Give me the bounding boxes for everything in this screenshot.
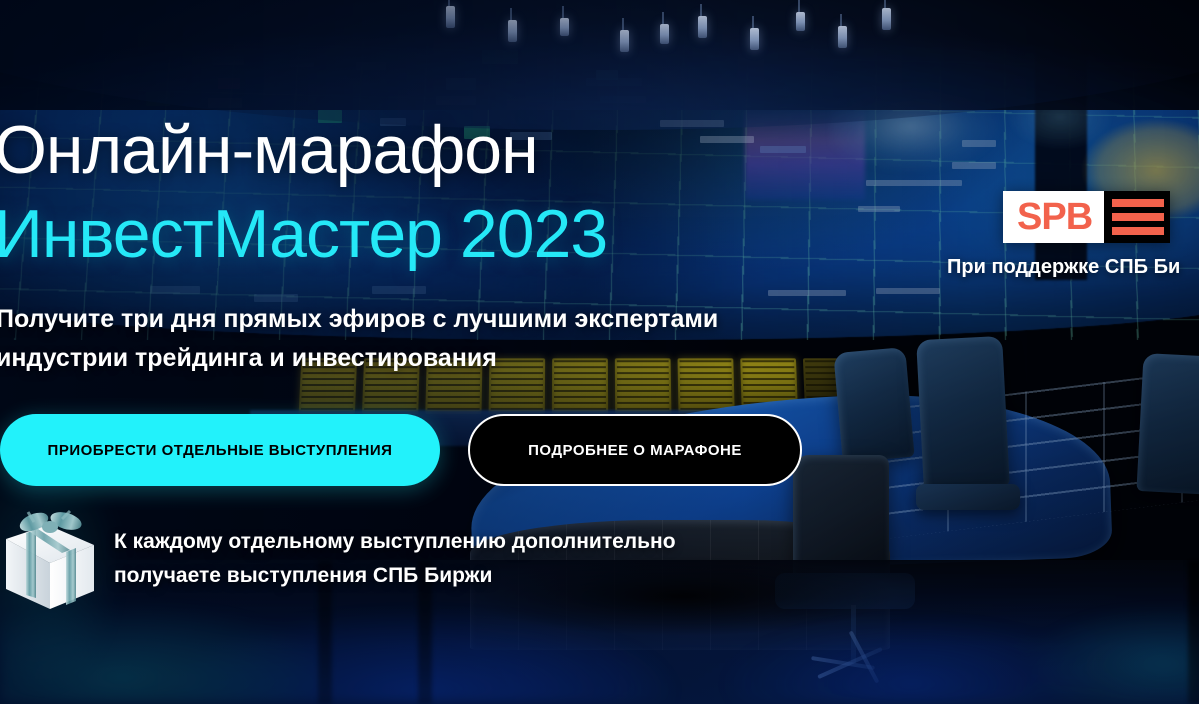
hero-banner: Онлайн-марафон ИнвестМастер 2023 Получит… xyxy=(0,0,1199,704)
learn-more-button[interactable]: ПОДРОБНЕЕ О МАРАФОНЕ xyxy=(468,414,802,486)
spb-logo-wordmark-wrap: SPB xyxy=(1003,191,1104,243)
bonus-note: К каждому отдельному выступлению дополни… xyxy=(0,505,676,613)
spb-logo-wordmark: SPB xyxy=(1017,198,1092,236)
bonus-text: К каждому отдельному выступлению дополни… xyxy=(114,525,676,593)
bonus-text-line2: получаете выступления СПБ Биржи xyxy=(114,564,492,587)
buy-individual-talks-button[interactable]: ПРИОБРЕСТИ ОТДЕЛЬНЫЕ ВЫСТУПЛЕНИЯ xyxy=(0,414,440,486)
partner-caption: При поддержке СПБ Би xyxy=(947,256,1180,279)
hero-subtitle: Получите три дня прямых эфиров с лучшими… xyxy=(0,300,756,378)
spb-exchange-logo[interactable]: SPB xyxy=(1003,191,1170,243)
bonus-text-line1: К каждому отдельному выступлению дополни… xyxy=(114,530,676,553)
hero-content: Онлайн-марафон ИнвестМастер 2023 Получит… xyxy=(0,0,1199,704)
page-title-line2: ИнвестМастер 2023 xyxy=(0,200,607,268)
three-bars-icon xyxy=(1104,191,1170,243)
gift-box-icon xyxy=(0,505,100,613)
hero-button-row: ПРИОБРЕСТИ ОТДЕЛЬНЫЕ ВЫСТУПЛЕНИЯ ПОДРОБН… xyxy=(0,414,802,486)
page-title-line1: Онлайн-марафон xyxy=(0,116,538,184)
